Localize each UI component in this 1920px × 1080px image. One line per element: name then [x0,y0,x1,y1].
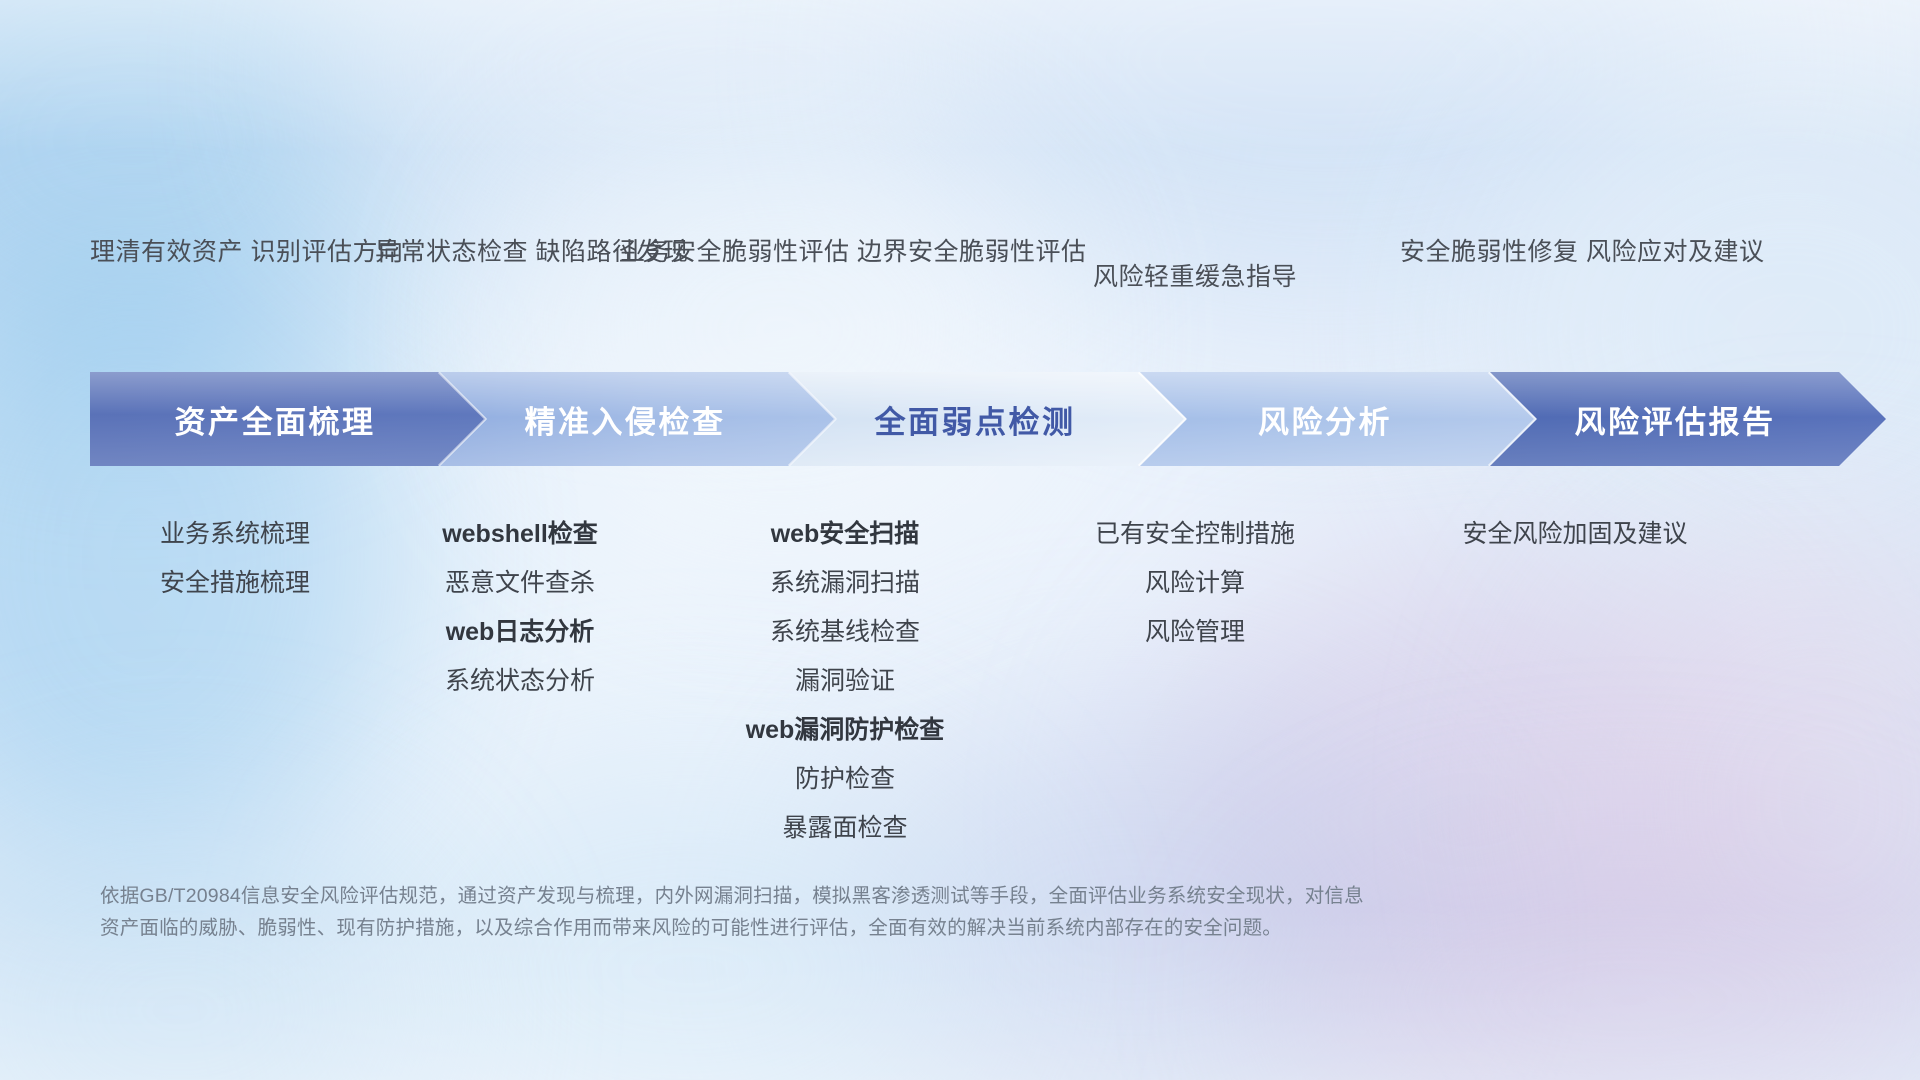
footer-line: 资产面临的威胁、脆弱性、现有防护措施，以及综合作用而带来风险的可能性进行评估，全… [100,912,1660,944]
process-diagram: 理清有效资产 识别评估方向 异常状态检查 缺陷路径发现 业务安全脆弱性评估 边界… [0,0,1920,1080]
chevron-label: 资产全面梳理 [90,397,486,442]
chevron-label: 风险评估报告 [1490,397,1886,442]
bottom-item: 漏洞验证 [700,657,990,706]
bottom-item: 安全风险加固及建议 [1400,510,1750,559]
chevron-label: 全面弱点检测 [790,397,1186,442]
chevron-stage-weakness-detection[interactable]: 全面弱点检测 [790,372,1186,466]
footer-line: 依据GB/T20984信息安全风险评估规范，通过资产发现与梳理，内外网漏洞扫描，… [100,880,1660,912]
bottom-item: 风险管理 [1050,608,1340,657]
top-item: 风险应对及建议 [1586,238,1765,266]
bottom-item: web漏洞防护检查 [700,706,990,755]
bottom-item: 系统基线检查 [700,608,990,657]
bottom-item: 系统漏洞扫描 [700,559,990,608]
top-item: 风险轻重缓急指导 [1093,263,1297,291]
bottom-item: 风险计算 [1050,559,1340,608]
bottom-item: 系统状态分析 [375,657,665,706]
stage-top-items-assessment-report: 安全脆弱性修复 风险应对及建议 [1400,228,1750,277]
bottom-item: 防护检查 [700,755,990,804]
stage-top-items-weakness-detection: 业务安全脆弱性评估 边界安全脆弱性评估 [620,228,1010,277]
chevron-label: 风险分析 [1140,397,1536,442]
top-item: 异常状态检查 [375,238,528,266]
chevron-stage-intrusion-check[interactable]: 精准入侵检查 [440,372,836,466]
top-item: 业务安全脆弱性评估 [620,238,850,266]
footer-description: 依据GB/T20984信息安全风险评估规范，通过资产发现与梳理，内外网漏洞扫描，… [100,880,1660,944]
bottom-item: 安全措施梳理 [90,559,380,608]
bottom-item: 恶意文件查杀 [375,559,665,608]
top-item: 理清有效资产 [90,238,243,266]
process-chevron-band: 资产全面梳理 精准入侵检查 [90,372,1830,466]
bottom-item: webshell检查 [375,510,665,559]
stage-bottom-items-asset-inventory: 业务系统梳理 安全措施梳理 [90,510,380,608]
top-item: 安全脆弱性修复 [1400,238,1579,266]
bottom-item: web安全扫描 [700,510,990,559]
bottom-item: 已有安全控制措施 [1050,510,1340,559]
stage-bottom-items-intrusion-check: webshell检查 恶意文件查杀 web日志分析 系统状态分析 [375,510,665,706]
stage-bottom-items-weakness-detection: web安全扫描 系统漏洞扫描 系统基线检查 漏洞验证 web漏洞防护检查 防护检… [700,510,990,853]
stage-top-items-risk-analysis: 风险轻重缓急指导 [1020,253,1370,302]
bottom-item: web日志分析 [375,608,665,657]
stage-top-items-asset-inventory: 理清有效资产 识别评估方向 [90,228,380,277]
chevron-stage-assessment-report[interactable]: 风险评估报告 [1490,372,1886,466]
chevron-stage-asset-inventory[interactable]: 资产全面梳理 [90,372,486,466]
bottom-item: 暴露面检查 [700,804,990,853]
bottom-item: 业务系统梳理 [90,510,380,559]
chevron-stage-risk-analysis[interactable]: 风险分析 [1140,372,1536,466]
stage-bottom-items-assessment-report: 安全风险加固及建议 [1400,510,1750,559]
chevron-label: 精准入侵检查 [440,397,836,442]
stage-bottom-items-risk-analysis: 已有安全控制措施 风险计算 风险管理 [1050,510,1340,657]
